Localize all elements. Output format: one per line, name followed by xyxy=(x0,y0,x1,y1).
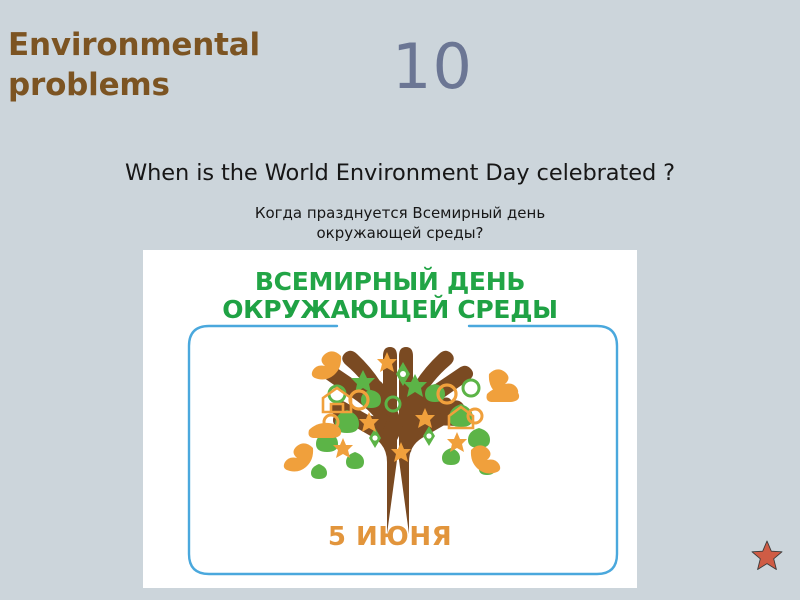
question-russian: Когда празднуется Всемирный день окружаю… xyxy=(0,204,800,244)
poster-image: ВСЕМИРНЫЙ ДЕНЬ ОКРУЖАЮЩЕЙ СРЕДЫ xyxy=(143,250,637,588)
poster-date: 5 ИЮНЯ xyxy=(143,522,637,552)
eco-tree-icon xyxy=(275,334,521,534)
question-english: When is the World Environment Day celebr… xyxy=(0,160,800,187)
question-russian-line-2: окружающей среды? xyxy=(0,224,800,244)
poster-heading-line-1: ВСЕМИРНЫЙ ДЕНЬ xyxy=(143,268,637,296)
star-icon[interactable] xyxy=(750,539,784,572)
question-russian-line-1: Когда празднуется Всемирный день xyxy=(0,204,800,224)
score-value: 10 xyxy=(392,36,562,98)
slide-canvas: Environmental problems 10 When is the Wo… xyxy=(0,0,800,600)
poster-heading: ВСЕМИРНЫЙ ДЕНЬ ОКРУЖАЮЩЕЙ СРЕДЫ xyxy=(143,268,637,324)
page-title: Environmental problems xyxy=(8,26,368,105)
poster-heading-line-2: ОКРУЖАЮЩЕЙ СРЕДЫ xyxy=(143,296,637,324)
